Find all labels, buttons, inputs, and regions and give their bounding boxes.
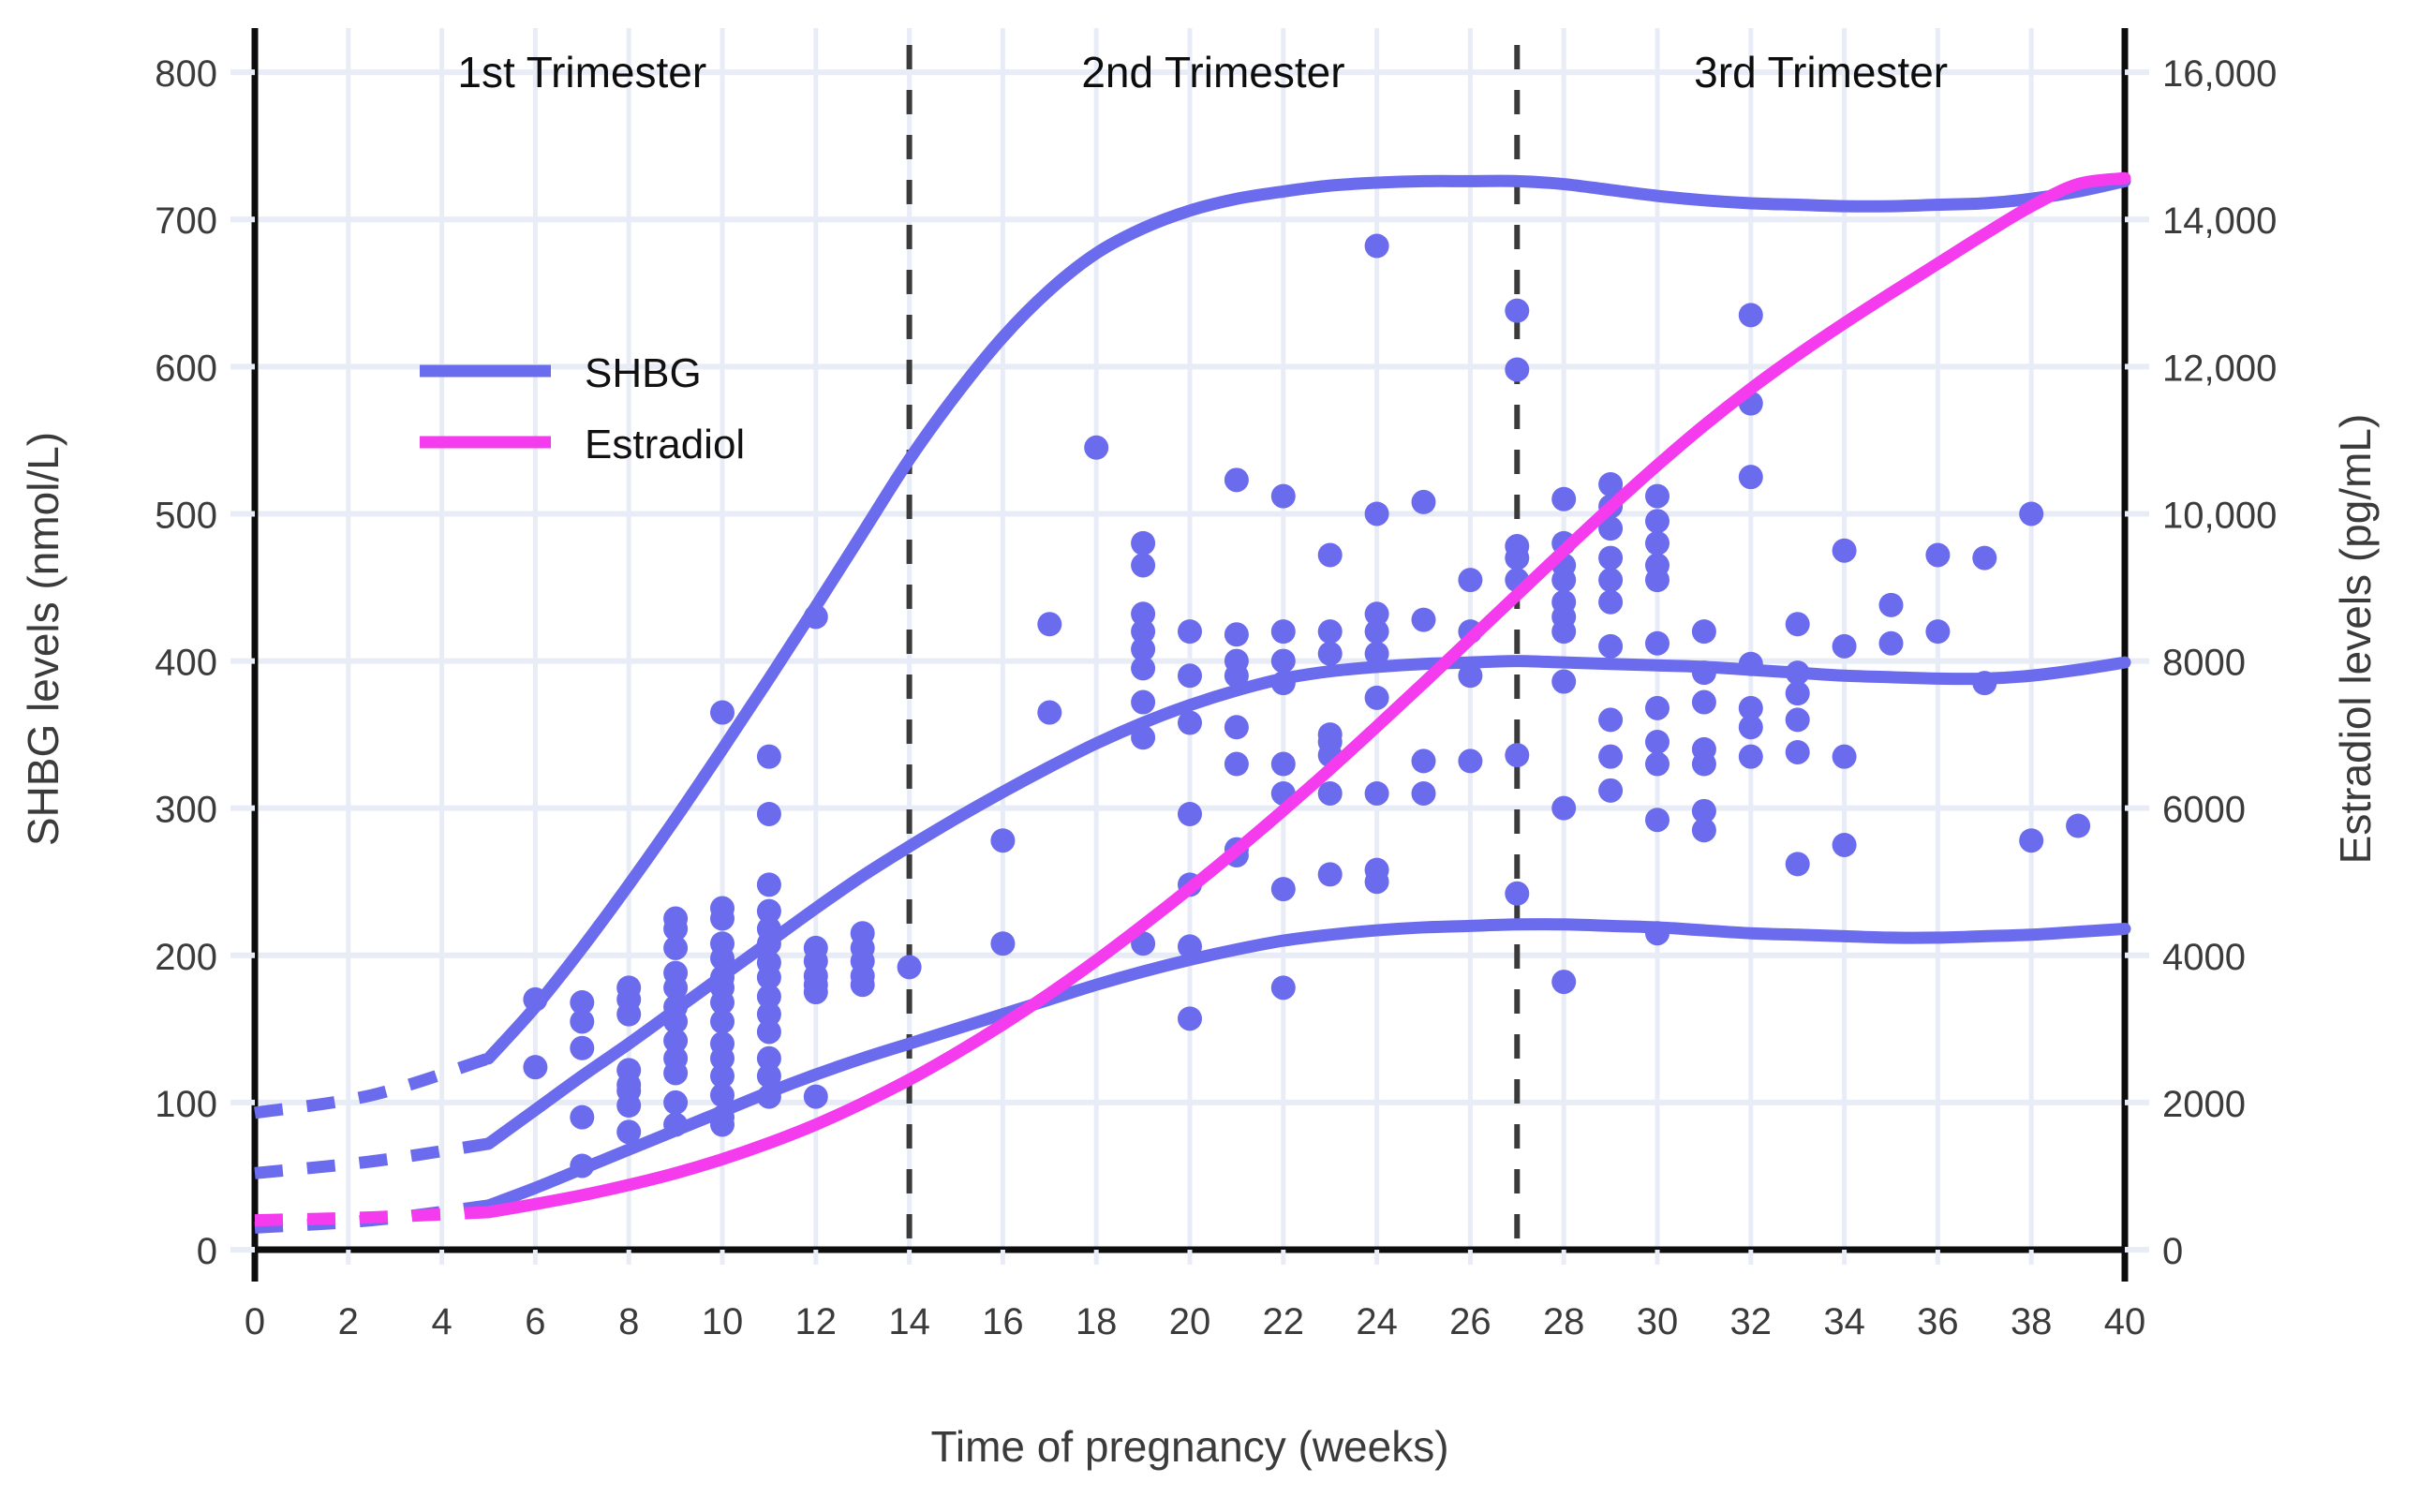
scatter-point xyxy=(1739,745,1763,769)
scatter-point xyxy=(710,701,735,725)
x-axis-tick-label: 26 xyxy=(1449,1301,1491,1342)
x-axis-tick-label: 34 xyxy=(1823,1301,1865,1342)
scatter-point xyxy=(1224,715,1249,739)
x-axis-tick-label: 20 xyxy=(1169,1301,1211,1342)
scatter-point xyxy=(1318,619,1343,644)
scatter-point xyxy=(1739,303,1763,327)
scatter-point xyxy=(1645,752,1670,777)
x-axis-tick-label: 10 xyxy=(702,1301,744,1342)
scatter-point xyxy=(1692,752,1716,777)
scatter-point xyxy=(2019,828,2043,852)
x-axis-title: Time of pregnancy (weeks) xyxy=(930,1422,1448,1471)
y-axis-tick-label-left: 300 xyxy=(155,790,217,831)
scatter-point xyxy=(1271,877,1296,901)
scatter-point xyxy=(1739,715,1763,739)
scatter-point xyxy=(663,1090,688,1115)
scatter-point xyxy=(1739,465,1763,489)
x-axis-tick-label: 40 xyxy=(2104,1301,2146,1342)
scatter-point xyxy=(1645,568,1670,592)
y-axis-tick-label-right: 10,000 xyxy=(2162,495,2277,536)
y-axis-tick-label-left: 700 xyxy=(155,200,217,242)
x-axis-tick-label: 18 xyxy=(1076,1301,1118,1342)
y-axis-tick-label-left: 100 xyxy=(155,1084,217,1125)
y-axis-tick-label-right: 16,000 xyxy=(2162,53,2277,95)
legend-label-shbg: SHBG xyxy=(585,350,702,396)
scatter-point xyxy=(1786,681,1810,705)
y-axis-title-right: Estradiol levels (pg/mL) xyxy=(2331,414,2380,865)
scatter-point xyxy=(1786,707,1810,732)
scatter-point xyxy=(1458,568,1482,592)
scatter-point xyxy=(757,802,781,826)
scatter-point xyxy=(1925,619,1950,644)
y-axis-tick-label-right: 14,000 xyxy=(2162,200,2277,242)
scatter-point xyxy=(710,1009,735,1033)
scatter-point xyxy=(1692,690,1716,715)
y-axis-tick-label-right: 4000 xyxy=(2162,937,2246,978)
scatter-point xyxy=(1551,796,1576,821)
scatter-point xyxy=(1412,608,1436,632)
x-axis-tick-label: 4 xyxy=(431,1301,452,1342)
y-axis-tick-label-left: 800 xyxy=(155,53,217,95)
scatter-point xyxy=(990,828,1015,852)
x-axis-tick-label: 16 xyxy=(982,1301,1024,1342)
scatter-point xyxy=(1598,778,1623,803)
scatter-point xyxy=(1833,833,1857,857)
scatter-point xyxy=(1645,808,1670,832)
y-axis-tick-label-left: 400 xyxy=(155,643,217,684)
y-axis-tick-label-right: 6000 xyxy=(2162,790,2246,831)
trimester-labels: 1st Trimester2nd Trimester3rd Trimester xyxy=(457,48,1948,96)
scatter-point xyxy=(1598,590,1623,615)
scatter-point xyxy=(1412,749,1436,773)
scatter-point xyxy=(1598,634,1623,659)
scatter-point xyxy=(663,1060,688,1085)
scatter-point xyxy=(1786,852,1810,876)
scatter-point xyxy=(710,907,735,931)
x-axis-tick-label: 24 xyxy=(1356,1301,1398,1342)
scatter-point xyxy=(1131,690,1155,715)
scatter-point xyxy=(1271,619,1296,644)
scatter-point xyxy=(1505,357,1529,381)
y-axis-tick-label-right: 8000 xyxy=(2162,643,2246,684)
scatter-point xyxy=(757,1019,781,1044)
scatter-point xyxy=(1318,542,1343,567)
x-axis-tick-label: 32 xyxy=(1730,1301,1773,1342)
y-axis-tick-label-left: 200 xyxy=(155,937,217,978)
chart-background xyxy=(0,0,2419,1512)
x-axis-tick-label: 2 xyxy=(338,1301,359,1342)
scatter-point xyxy=(1271,975,1296,1000)
scatter-point xyxy=(2019,501,2043,526)
scatter-point xyxy=(1178,663,1202,688)
scatter-point xyxy=(1645,484,1670,509)
trimester-1-label: 1st Trimester xyxy=(457,48,706,96)
scatter-point xyxy=(1271,649,1296,674)
scatter-point xyxy=(1786,740,1810,764)
scatter-point xyxy=(1505,743,1529,767)
scatter-point xyxy=(1551,670,1576,694)
scatter-point xyxy=(1505,299,1529,323)
scatter-point xyxy=(570,1036,594,1060)
scatter-point xyxy=(1178,802,1202,826)
scatter-point xyxy=(1365,686,1389,710)
scatter-point xyxy=(1505,882,1529,906)
scatter-point xyxy=(1178,619,1202,644)
y-axis-tick-label-left: 500 xyxy=(155,495,217,536)
scatter-point xyxy=(1365,234,1389,259)
scatter-point xyxy=(1318,642,1343,666)
x-axis-tick-label: 36 xyxy=(1917,1301,1959,1342)
x-axis-tick-label: 30 xyxy=(1637,1301,1679,1342)
x-axis-tick-label: 0 xyxy=(245,1301,265,1342)
x-axis-tick-label: 14 xyxy=(888,1301,930,1342)
scatter-point xyxy=(1879,593,1904,617)
scatter-point xyxy=(1925,542,1950,567)
scatter-point xyxy=(1598,707,1623,732)
scatter-point xyxy=(1037,701,1061,725)
y-axis-tick-label-right: 2000 xyxy=(2162,1084,2246,1125)
scatter-point xyxy=(990,931,1015,956)
scatter-point xyxy=(1365,501,1389,526)
y-axis-tick-label-left: 0 xyxy=(197,1231,217,1272)
scatter-point xyxy=(1412,490,1436,514)
scatter-point xyxy=(1224,622,1249,646)
scatter-point xyxy=(1458,749,1482,773)
y-axis-title-left: SHBG levels (nmol/L) xyxy=(19,432,67,846)
scatter-point xyxy=(1224,467,1249,492)
scatter-point xyxy=(804,980,828,1004)
scatter-point xyxy=(1598,745,1623,769)
scatter-point xyxy=(1037,612,1061,636)
scatter-point xyxy=(1833,745,1857,769)
scatter-point xyxy=(1131,553,1155,577)
scatter-point xyxy=(1551,619,1576,644)
scatter-point xyxy=(1879,631,1904,656)
scatter-point xyxy=(1692,818,1716,842)
chart-container: 0246810121416182022242628303234363840010… xyxy=(0,0,2419,1512)
scatter-point xyxy=(1598,568,1623,592)
legend-label-estradiol: Estradiol xyxy=(585,422,745,467)
scatter-point xyxy=(1645,730,1670,754)
trimester-2-label: 2nd Trimester xyxy=(1081,48,1344,96)
scatter-point xyxy=(1833,634,1857,659)
scatter-point xyxy=(804,1085,828,1109)
scatter-point xyxy=(1178,1006,1202,1030)
scatter-point xyxy=(1645,531,1670,556)
scatter-point xyxy=(2066,814,2090,838)
scatter-point xyxy=(570,1009,594,1033)
scatter-point xyxy=(757,745,781,769)
y-axis-tick-label-right: 12,000 xyxy=(2162,348,2277,389)
scatter-point xyxy=(1551,487,1576,511)
scatter-point xyxy=(1131,531,1155,556)
scatter-point xyxy=(1833,539,1857,563)
scatter-point xyxy=(616,1002,641,1027)
scatter-point xyxy=(663,936,688,960)
trimester-3-label: 3rd Trimester xyxy=(1694,48,1948,96)
x-axis-tick-label: 8 xyxy=(618,1301,639,1342)
scatter-point xyxy=(1412,781,1436,806)
scatter-point xyxy=(1551,970,1576,994)
scatter-point xyxy=(1551,568,1576,592)
scatter-point xyxy=(1645,509,1670,533)
scatter-point xyxy=(1084,436,1108,460)
scatter-point xyxy=(1365,619,1389,644)
scatter-point xyxy=(1365,869,1389,894)
x-axis-tick-label: 6 xyxy=(525,1301,545,1342)
scatter-point xyxy=(1645,696,1670,720)
scatter-point xyxy=(851,972,875,997)
x-axis-tick-label: 22 xyxy=(1263,1301,1305,1342)
x-axis-tick-label: 28 xyxy=(1543,1301,1585,1342)
scatter-point xyxy=(1318,862,1343,886)
scatter-point xyxy=(1271,752,1296,777)
scatter-point xyxy=(1972,546,1996,571)
scatter-point xyxy=(1786,612,1810,636)
scatter-point xyxy=(898,955,922,979)
scatter-point xyxy=(1598,546,1623,571)
scatter-point xyxy=(757,872,781,897)
pregnancy-hormone-chart: 0246810121416182022242628303234363840010… xyxy=(0,0,2419,1512)
scatter-point xyxy=(1505,546,1529,571)
scatter-point xyxy=(523,1055,547,1079)
y-axis-tick-label-left: 600 xyxy=(155,348,217,389)
scatter-point xyxy=(1692,619,1716,644)
scatter-point xyxy=(616,1093,641,1118)
scatter-point xyxy=(1224,752,1249,777)
scatter-point xyxy=(1131,656,1155,680)
scatter-point xyxy=(570,1105,594,1130)
scatter-point xyxy=(1365,781,1389,806)
scatter-point xyxy=(1645,631,1670,656)
y-axis-tick-label-right: 0 xyxy=(2162,1231,2183,1272)
x-axis-tick-label: 12 xyxy=(795,1301,838,1342)
scatter-point xyxy=(1271,484,1296,509)
x-axis-tick-label: 38 xyxy=(2011,1301,2053,1342)
